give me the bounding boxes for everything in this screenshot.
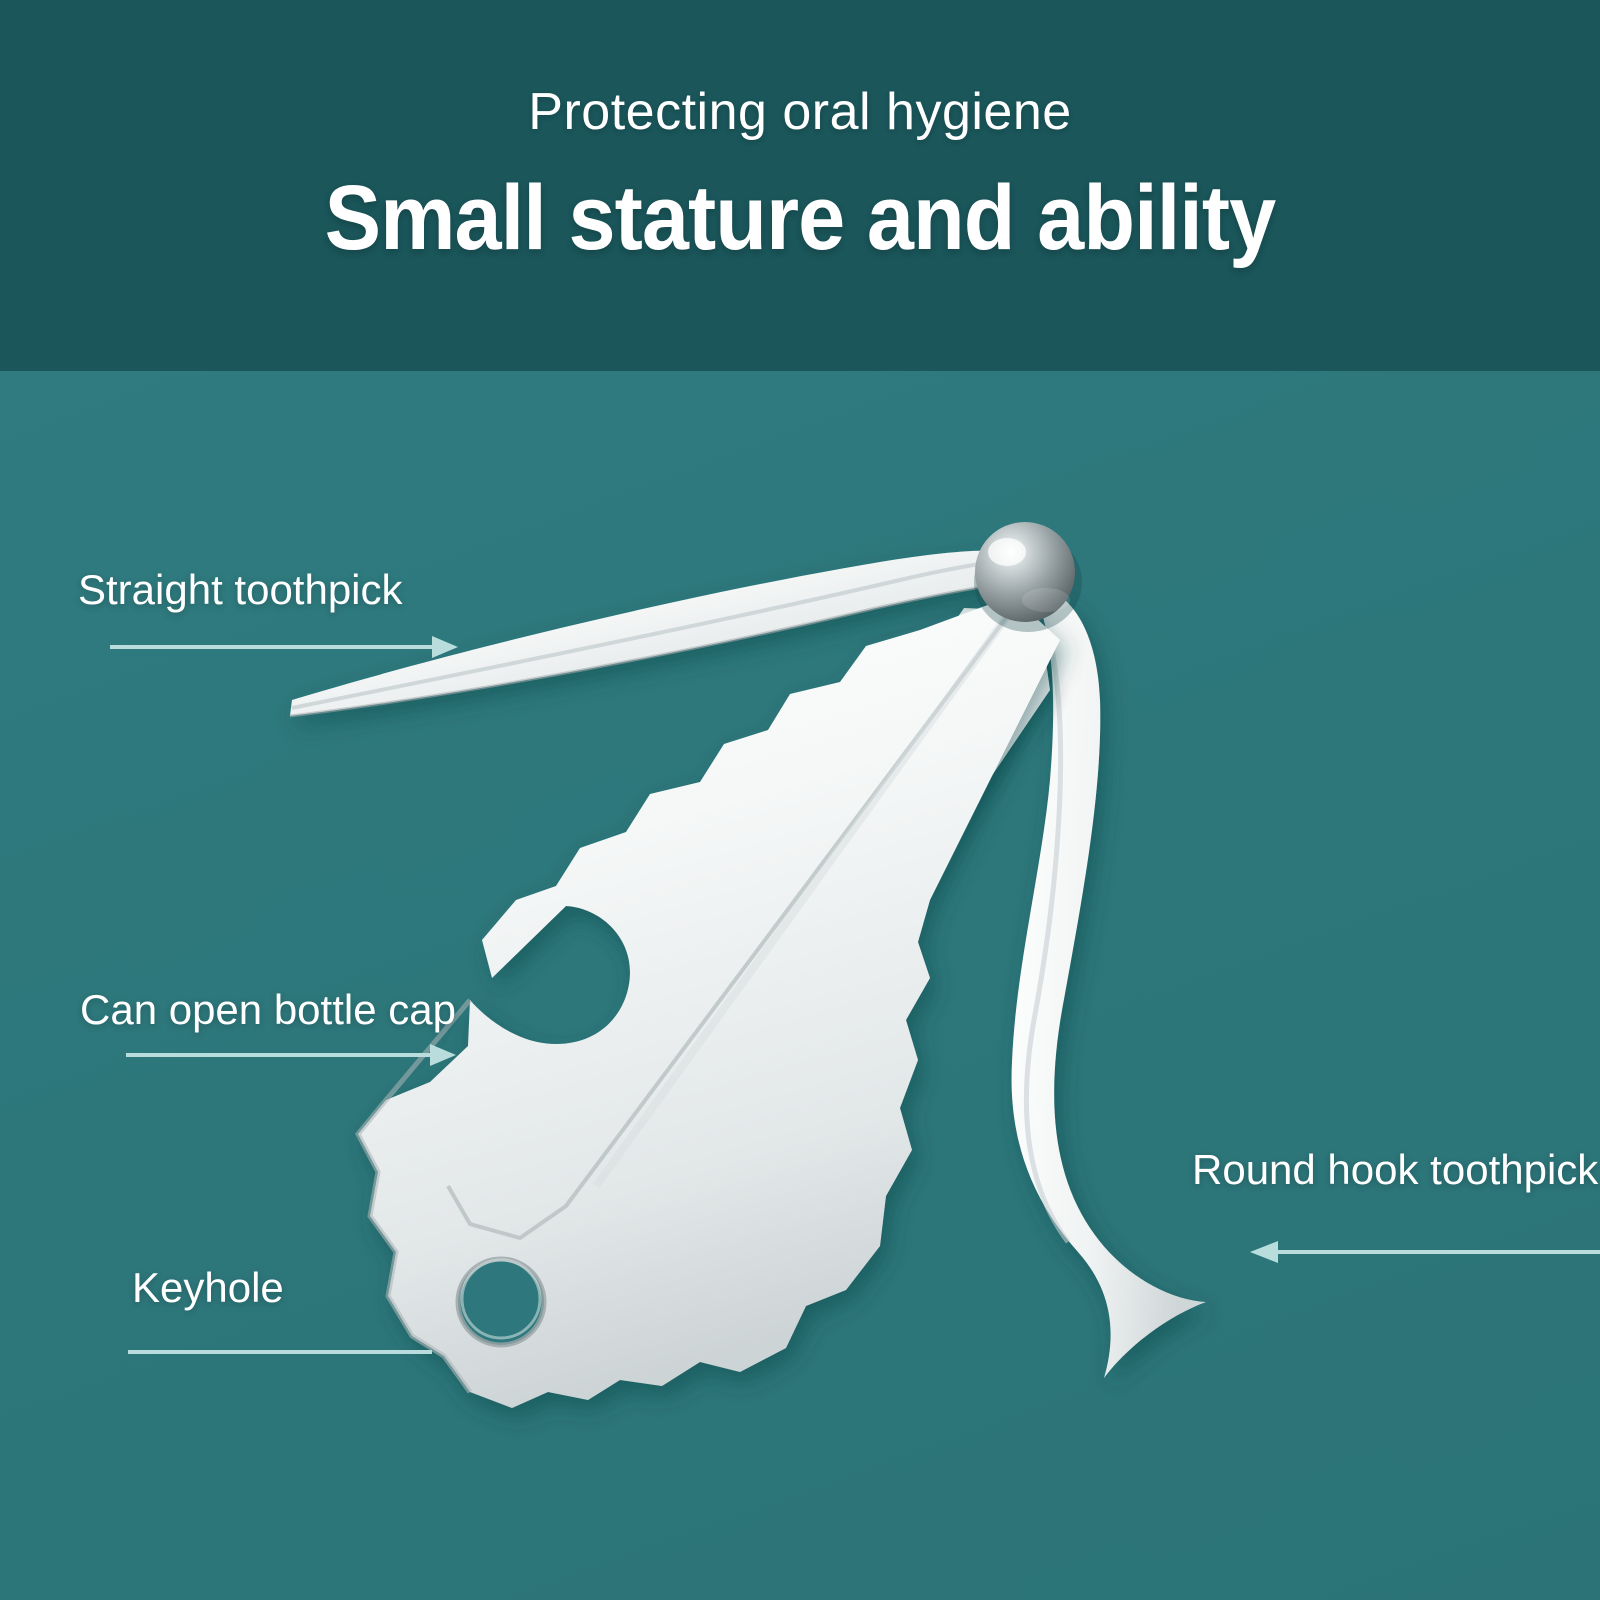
callout-round-hook-toothpick: Round hook toothpick — [1192, 1148, 1598, 1192]
callout-keyhole: Keyhole — [132, 1266, 284, 1310]
callout-straight-toothpick: Straight toothpick — [78, 568, 403, 612]
arrow-round-hook-toothpick — [1250, 1241, 1600, 1263]
arrow-bottle-opener — [126, 1044, 456, 1066]
callout-arrows — [0, 0, 1600, 1600]
callout-bottle-opener: Can open bottle cap — [80, 988, 456, 1032]
callout-label: Can open bottle cap — [80, 988, 456, 1032]
callout-label: Round hook toothpick — [1192, 1148, 1598, 1192]
callout-label: Straight toothpick — [78, 568, 403, 612]
callout-label: Keyhole — [132, 1266, 284, 1310]
infographic-page: Protecting oral hygiene Small stature an… — [0, 0, 1600, 1600]
arrow-straight-toothpick — [110, 636, 458, 658]
